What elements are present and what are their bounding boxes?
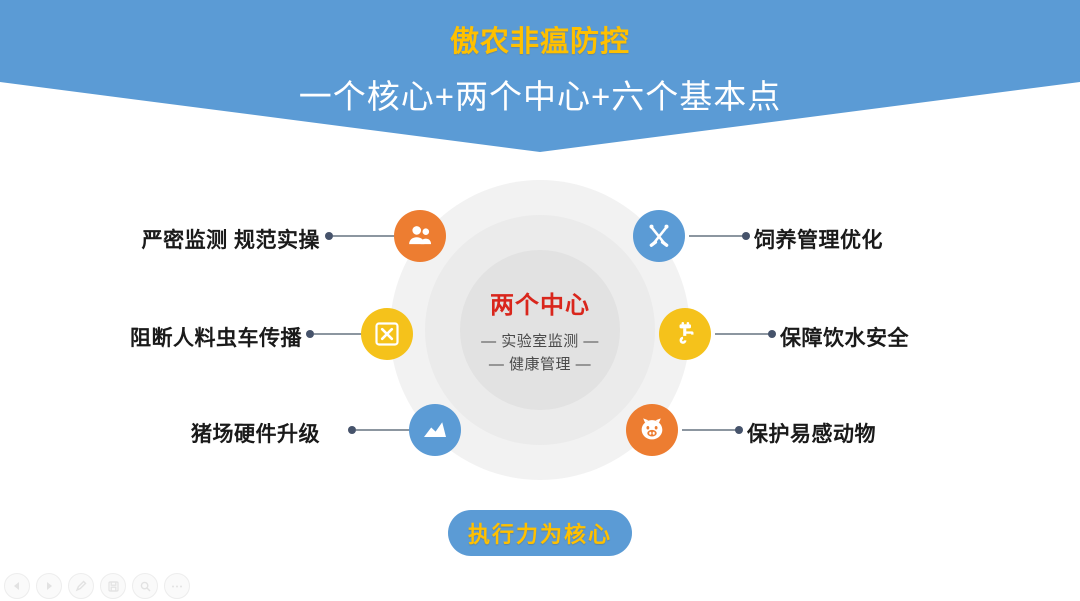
item-label-right-3: 保护易感动物 (747, 418, 876, 448)
center-text-block: 两个中心 — 实验室监测 — — 健康管理 — (420, 285, 660, 377)
connector-line-right-2 (715, 333, 771, 335)
connector-line-left-3 (356, 429, 412, 431)
center-line-1: — 实验室监测 — (420, 330, 660, 353)
item-label-right-2: 保障饮水安全 (780, 322, 909, 352)
item-label-right-1: 饲养管理优化 (754, 224, 883, 254)
ellipsis-icon (171, 584, 183, 589)
connector-line-left-2 (314, 333, 362, 335)
slide-canvas: 傲农非瘟防控 一个核心+两个中心+六个基本点 两个中心 — 实验室监测 — — … (0, 0, 1080, 601)
icon-bubble-boxed-x[interactable] (361, 308, 413, 360)
center-line-2: — 健康管理 — (420, 353, 660, 376)
connector-line-right-1 (689, 235, 745, 237)
play-button[interactable] (36, 573, 62, 599)
save-button[interactable] (100, 573, 126, 599)
page-title: 傲农非瘟防控 (0, 18, 1080, 60)
pen-icon (75, 580, 87, 592)
edit-button[interactable] (68, 573, 94, 599)
chart-mountain-icon (421, 416, 449, 444)
boxed-x-icon (373, 320, 401, 348)
connector-line-right-3 (682, 429, 738, 431)
connector-dot-left-1 (325, 232, 333, 240)
icon-bubble-tools[interactable] (633, 210, 685, 262)
icon-bubble-chart[interactable] (409, 404, 461, 456)
connector-dot-right-3 (735, 426, 743, 434)
pig-face-icon (637, 415, 667, 445)
play-triangle-icon (44, 581, 54, 591)
icon-bubble-faucet[interactable] (659, 308, 711, 360)
more-button[interactable] (164, 573, 190, 599)
center-title: 两个中心 (420, 285, 660, 320)
prev-triangle-icon (12, 581, 22, 591)
bottom-toolbar (4, 573, 190, 599)
connector-dot-left-2 (306, 330, 314, 338)
search-button[interactable] (132, 573, 158, 599)
connector-line-left-1 (333, 235, 395, 237)
icon-bubble-people[interactable] (394, 210, 446, 262)
tools-cross-icon (645, 222, 673, 250)
connector-dot-right-2 (768, 330, 776, 338)
core-pill-button[interactable]: 执行力为核心 (448, 510, 632, 556)
item-label-left-1: 严密监测 规范实操 (142, 224, 320, 254)
page-subtitle: 一个核心+两个中心+六个基本点 (0, 70, 1080, 118)
faucet-icon (671, 320, 699, 348)
save-icon (108, 581, 119, 592)
icon-bubble-pig[interactable] (626, 404, 678, 456)
connector-dot-left-3 (348, 426, 356, 434)
people-icon (405, 221, 435, 251)
previous-button[interactable] (4, 573, 30, 599)
connector-dot-right-1 (742, 232, 750, 240)
item-label-left-3: 猪场硬件升级 (191, 418, 320, 448)
magnifier-icon (140, 581, 151, 592)
item-label-left-2: 阻断人料虫车传播 (130, 322, 302, 352)
